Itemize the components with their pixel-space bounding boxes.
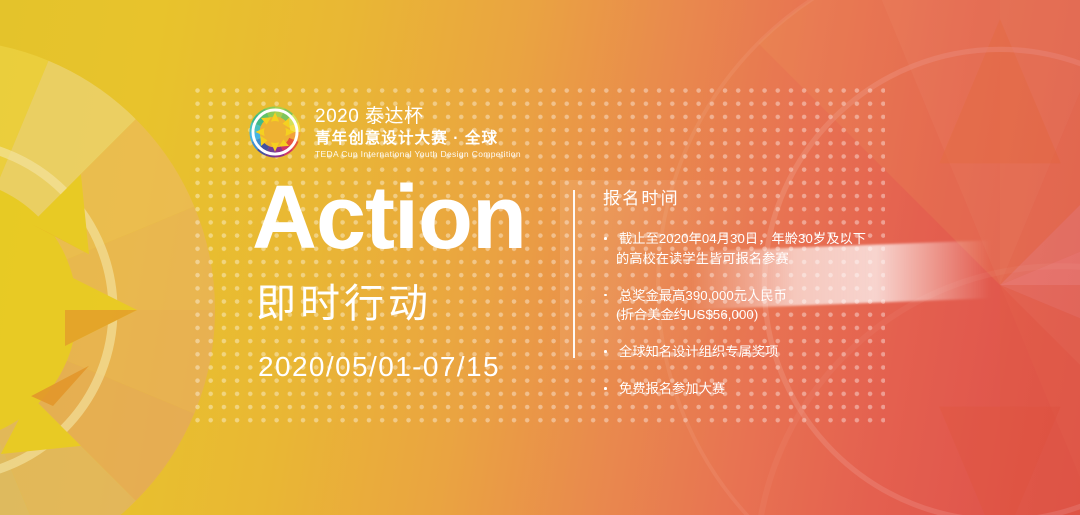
list-item: 总奖金最高390,000元人民币 (折合美金约US$56,000) bbox=[603, 286, 893, 326]
headline-title: Action bbox=[252, 176, 526, 262]
bullet-dot-icon bbox=[604, 350, 607, 353]
vertical-divider bbox=[573, 190, 575, 358]
list-item: 免费报名参加大赛 bbox=[603, 379, 893, 399]
bullet-line-1: 全球知名设计组织专属奖项 bbox=[619, 344, 778, 359]
logo-text-block: 2020 泰达杯 青年创意设计大赛 · 全球 TEDA Cup Internat… bbox=[315, 106, 521, 159]
logo-subtitle-en: TEDA Cup International Youth Design Comp… bbox=[315, 150, 521, 159]
bullet-line-1: 总奖金最高390,000元人民币 bbox=[619, 288, 787, 303]
logo-title-cn: 2020 泰达杯 bbox=[315, 107, 521, 126]
bullet-line-2: 的高校在读学生皆可报名参赛 bbox=[616, 249, 893, 269]
logo-subtitle-cn: 青年创意设计大赛 · 全球 bbox=[315, 131, 521, 147]
bullet-line-1: 截止至2020年04月30日，年龄30岁及以下 bbox=[619, 231, 866, 246]
list-item: 全球知名设计组织专属奖项 bbox=[603, 342, 893, 362]
headline-subtitle: 即时行动 bbox=[256, 284, 526, 324]
teda-cup-color-wheel-sun-icon bbox=[246, 103, 304, 161]
bullet-line-2: (折合美金约US$56,000) bbox=[616, 305, 893, 325]
list-item: 截止至2020年04月30日，年龄30岁及以下 的高校在读学生皆可报名参赛 bbox=[603, 229, 893, 269]
event-banner: 2020 泰达杯 青年创意设计大赛 · 全球 TEDA Cup Internat… bbox=[0, 0, 1080, 515]
registration-info-title: 报名时间 bbox=[603, 184, 893, 209]
banner-content: 2020 泰达杯 青年创意设计大赛 · 全球 TEDA Cup Internat… bbox=[0, 0, 1080, 515]
headline-block: Action 即时行动 2020/05/01-07/15 bbox=[252, 176, 526, 381]
bullet-line-1: 免费报名参加大赛 bbox=[619, 381, 725, 396]
bullet-dot-icon bbox=[604, 294, 607, 297]
registration-info-panel: 报名时间 截止至2020年04月30日，年龄30岁及以下 的高校在读学生皆可报名… bbox=[603, 184, 893, 399]
bullet-dot-icon bbox=[604, 387, 607, 390]
registration-bullet-list: 截止至2020年04月30日，年龄30岁及以下 的高校在读学生皆可报名参赛 总奖… bbox=[603, 229, 893, 399]
event-date-range: 2020/05/01-07/15 bbox=[258, 353, 526, 381]
competition-logo-lockup: 2020 泰达杯 青年创意设计大赛 · 全球 TEDA Cup Internat… bbox=[246, 103, 521, 161]
bullet-dot-icon bbox=[604, 237, 607, 240]
